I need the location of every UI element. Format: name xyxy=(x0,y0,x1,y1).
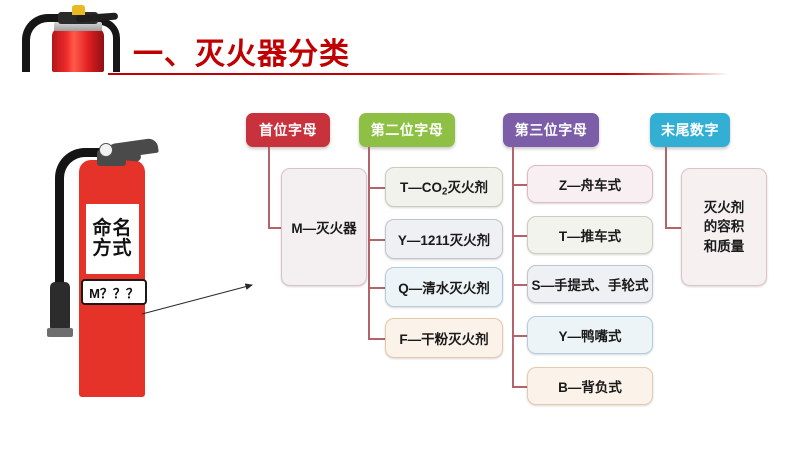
extinguisher-photo xyxy=(14,2,124,70)
column-header-label: 第三位字母 xyxy=(515,120,588,140)
node-box[interactable]: Q—清水灭火剂 xyxy=(385,267,503,307)
connector-branch xyxy=(368,287,385,289)
node-text-line: 的容积 xyxy=(704,217,745,237)
connector-branch xyxy=(512,184,527,186)
extinguisher-illustration: 命名 方式 M？？？ xyxy=(52,142,192,432)
illustration-name-label: 命名 方式 xyxy=(86,204,139,274)
page-title: 一、灭火器分类 xyxy=(133,29,350,73)
node-box[interactable]: F—干粉灭火剂 xyxy=(385,318,503,358)
node-text: Z—舟车式 xyxy=(559,174,621,194)
node-box[interactable]: Y—鸭嘴式 xyxy=(527,316,653,354)
photo-safety-pin xyxy=(72,5,85,15)
connector-branch xyxy=(512,386,527,388)
column-header-4[interactable]: 末尾数字 xyxy=(650,113,730,147)
connector-branch xyxy=(368,239,385,241)
column-header-1[interactable]: 首位字母 xyxy=(246,113,330,147)
connector-branch xyxy=(512,335,527,337)
node-text: M—灭火器 xyxy=(291,217,356,237)
node-text-line: 和质量 xyxy=(704,237,745,257)
connector-trunk-4 xyxy=(665,147,667,227)
connector-branch xyxy=(512,235,527,237)
title-divider xyxy=(108,73,628,75)
illustration-nozzle-tip xyxy=(47,328,73,337)
node-box[interactable]: T—CO2灭火剂 xyxy=(385,167,503,207)
connector-branch xyxy=(368,187,385,189)
connector-branch xyxy=(512,284,527,286)
node-box[interactable]: 灭火剂的容积和质量 xyxy=(681,168,767,286)
illustration-nozzle xyxy=(50,282,70,330)
node-text: Y—鸭嘴式 xyxy=(558,325,621,345)
column-header-label: 末尾数字 xyxy=(661,120,719,140)
connector-branch xyxy=(665,227,681,229)
node-text: Q—清水灭火剂 xyxy=(398,277,490,297)
node-text: B—背负式 xyxy=(558,376,622,396)
column-header-label: 首位字母 xyxy=(259,120,317,140)
node-text: Y—1211灭火剂 xyxy=(398,229,490,249)
connector-branch xyxy=(368,338,385,340)
node-text: S—手提式、手轮式 xyxy=(531,274,648,294)
illustration-code-text: M？？？ xyxy=(89,283,139,302)
node-box[interactable]: T—推车式 xyxy=(527,216,653,254)
node-box[interactable]: B—背负式 xyxy=(527,367,653,405)
node-text: T—推车式 xyxy=(559,225,621,245)
title-divider-fade xyxy=(620,73,730,75)
column-header-label: 第二位字母 xyxy=(371,120,444,140)
node-text: T—CO2灭火剂 xyxy=(400,176,488,197)
connector-trunk-2 xyxy=(368,147,370,338)
column-header-3[interactable]: 第三位字母 xyxy=(503,113,599,147)
illustration-knob xyxy=(99,143,113,157)
node-box[interactable]: Y—1211灭火剂 xyxy=(385,219,503,259)
column-header-2[interactable]: 第二位字母 xyxy=(359,113,455,147)
node-box[interactable]: M—灭火器 xyxy=(281,168,367,286)
connector-trunk-3 xyxy=(512,147,514,386)
photo-tank xyxy=(52,28,104,72)
illustration-label-line1: 命名 xyxy=(92,219,132,239)
illustration-label-line2: 方式 xyxy=(92,239,132,259)
connector-trunk-1 xyxy=(268,147,270,227)
connector-branch xyxy=(268,227,281,229)
node-box[interactable]: Z—舟车式 xyxy=(527,165,653,203)
node-text-line: 灭火剂 xyxy=(704,198,745,218)
node-box[interactable]: S—手提式、手轮式 xyxy=(527,265,653,303)
illustration-code-box: M？？？ xyxy=(81,279,147,305)
node-text: F—干粉灭火剂 xyxy=(399,328,488,348)
